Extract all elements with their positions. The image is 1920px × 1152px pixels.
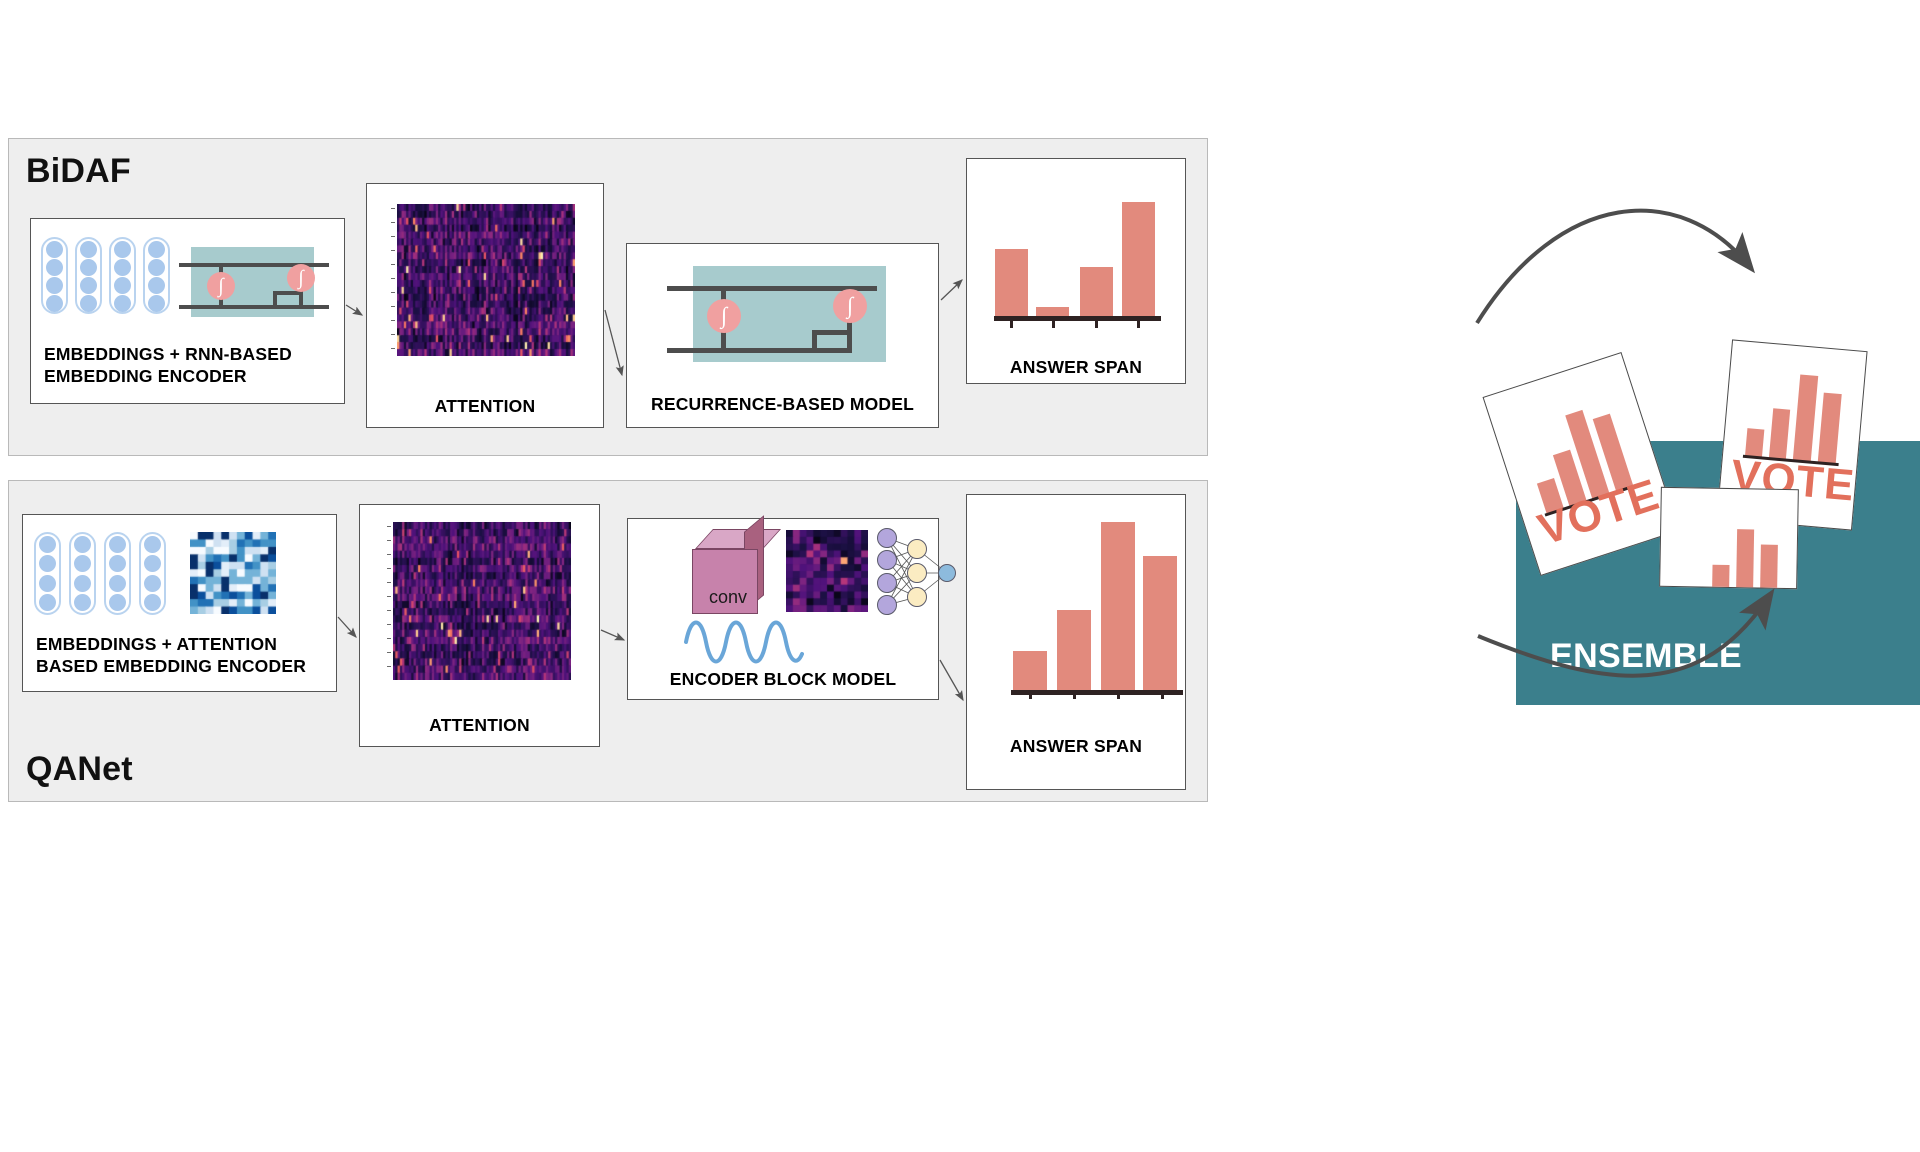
embedding-dot [148, 295, 165, 312]
embedding-dot [46, 295, 63, 312]
nn-hidden-node [907, 563, 927, 583]
embedding-dot [109, 575, 126, 592]
qanet-attention-label: ATTENTION [360, 713, 599, 737]
nn-hidden-node [907, 587, 927, 607]
rnn-bottom-wire [179, 305, 329, 309]
answer-bar [1057, 610, 1091, 692]
nn-input-node [877, 595, 897, 615]
qanet-answer-span-chart [1013, 522, 1157, 692]
encoder-block-heatmap [786, 530, 868, 612]
chart-baseline [994, 316, 1161, 321]
ballot-bar [1760, 545, 1778, 588]
embedding-dot [144, 536, 161, 553]
embedding-dot [144, 575, 161, 592]
sigmoid-icon: ∫ [207, 272, 235, 300]
nn-input-node [877, 528, 897, 548]
diagram-canvas: BiDAF ∫ ∫ EMBEDDINGS + RNN-BASE [0, 0, 1920, 1152]
embedding-dot [109, 536, 126, 553]
sigmoid-icon: ∫ [707, 299, 741, 333]
embedding-dot [148, 241, 165, 258]
embedding-dot [39, 555, 56, 572]
embedding-dot [46, 259, 63, 276]
chart-tick [1161, 694, 1164, 699]
nn-output-node [938, 564, 956, 582]
sigmoid-icon: ∫ [833, 289, 867, 323]
embedding-dot [39, 594, 56, 611]
bidaf-encoder-card[interactable]: ∫ ∫ EMBEDDINGS + RNN-BASED EMBEDDING ENC… [30, 218, 345, 404]
positional-encoding-wave [684, 614, 804, 669]
ballot-bar [1818, 393, 1842, 464]
nn-input-node [877, 573, 897, 593]
embedding-dot [46, 241, 63, 258]
ballot-bar [1769, 408, 1790, 459]
qanet-encoder-card[interactable]: EMBEDDINGS + ATTENTION BASED EMBEDDING E… [22, 514, 337, 692]
chart-tick [1073, 694, 1076, 699]
rnn-gate-wire-left [273, 291, 277, 309]
ballot-card-front[interactable] [1659, 487, 1799, 589]
embedding-dot [46, 277, 63, 294]
embedding-dot [109, 555, 126, 572]
nn-hidden-node [907, 539, 927, 559]
answer-bar [1143, 556, 1177, 692]
embedding-dot [74, 594, 91, 611]
embedding-dot [148, 277, 165, 294]
model-gate-left [812, 330, 817, 353]
bidaf-encoder-label-line1: EMBEDDINGS + RNN-BASED [44, 342, 344, 366]
qanet-model-card[interactable]: conv [627, 518, 939, 700]
embedding-dot [80, 241, 97, 258]
embedding-dot [74, 575, 91, 592]
bidaf-model-label: RECURRENCE-BASED MODEL [627, 392, 938, 416]
bidaf-answer-span-chart [995, 185, 1163, 318]
bidaf-title: BiDAF [26, 152, 131, 191]
conv-cube-top [695, 529, 781, 549]
embedding-dot [114, 241, 131, 258]
bidaf-attention-heatmap [397, 204, 575, 356]
embedding-dot [148, 259, 165, 276]
answer-bar [1013, 651, 1047, 692]
qanet-answer-label: ANSWER SPAN [967, 734, 1185, 758]
chart-tick [1052, 320, 1055, 328]
embedding-dot [144, 594, 161, 611]
model-bottom-wire [667, 348, 852, 353]
embedding-dot [80, 259, 97, 276]
embedding-dot [74, 555, 91, 572]
bidaf-attention-card[interactable]: ATTENTION [366, 183, 604, 428]
bidaf-answer-label: ANSWER SPAN [967, 355, 1185, 379]
bidaf-encoder-label-line2: EMBEDDING ENCODER [44, 364, 344, 388]
qanet-model-label: ENCODER BLOCK MODEL [628, 667, 938, 691]
embedding-dot [80, 295, 97, 312]
bidaf-answer-card[interactable]: ANSWER SPAN [966, 158, 1186, 384]
qanet-title: QANet [26, 750, 133, 789]
embedding-dot [144, 555, 161, 572]
chart-tick [1095, 320, 1098, 328]
qanet-encoder-label-line2: BASED EMBEDDING ENCODER [36, 654, 336, 678]
qanet-attention-card[interactable]: ATTENTION [359, 504, 600, 747]
chart-tick [1010, 320, 1013, 328]
sigmoid-icon: ∫ [287, 264, 315, 292]
qanet-answer-card[interactable]: ANSWER SPAN [966, 494, 1186, 790]
embedding-dot [74, 536, 91, 553]
model-gate-top [812, 330, 852, 335]
ballot-bar [1736, 529, 1754, 587]
ensemble-label: ENSEMBLE [1550, 637, 1742, 676]
embedding-dot [114, 295, 131, 312]
embedding-dot [80, 277, 97, 294]
embedding-dot [109, 594, 126, 611]
embedding-dot [39, 536, 56, 553]
chart-tick [1137, 320, 1140, 328]
answer-bar [995, 249, 1028, 318]
chart-tick [1117, 694, 1120, 699]
bidaf-model-card[interactable]: ∫ ∫ RECURRENCE-BASED MODEL [626, 243, 939, 428]
answer-bar [1101, 522, 1135, 692]
ballot-bar [1712, 565, 1729, 587]
embedding-dot [114, 259, 131, 276]
conv-label: conv [709, 587, 747, 608]
answer-bar [1080, 267, 1113, 318]
qanet-attention-matrix [190, 532, 276, 614]
chart-baseline [1011, 690, 1183, 695]
ballot-bar [1793, 374, 1818, 461]
embedding-dot [39, 575, 56, 592]
chart-tick [1029, 694, 1032, 699]
qanet-encoder-label-line1: EMBEDDINGS + ATTENTION [36, 632, 336, 656]
bidaf-attention-label: ATTENTION [367, 394, 603, 418]
qanet-attention-heatmap [393, 522, 571, 680]
nn-input-node [877, 550, 897, 570]
answer-bar [1122, 202, 1155, 318]
embedding-dot [114, 277, 131, 294]
feedforward-network [875, 527, 967, 619]
